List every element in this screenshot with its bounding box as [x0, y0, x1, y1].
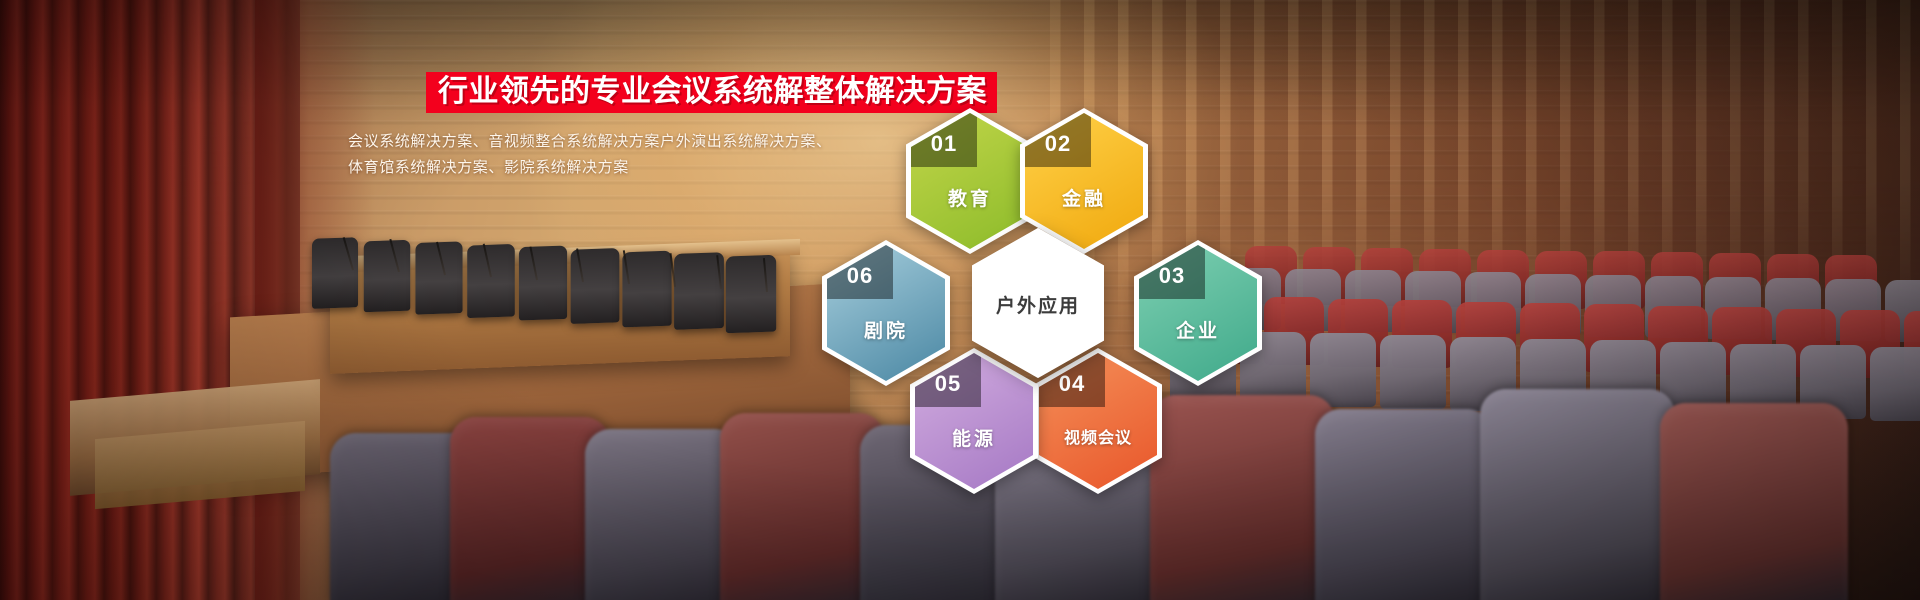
foreground-seat: [585, 429, 740, 600]
foreground-seat: [1660, 403, 1848, 600]
foreground-seat: [1315, 409, 1493, 600]
solution-hexagon-cluster: 01教育02金融03企业04视频会议05能源06剧院户外应用: [826, 100, 1266, 480]
banner-stage: 行业领先的专业会议系统解整体解决方案 会议系统解决方案、音视频整合系统解决方案户…: [0, 0, 1920, 600]
hex-center-label: 户外应用: [972, 291, 1104, 318]
hex-label: 视频会议: [1039, 424, 1157, 448]
hex-label: 企业: [1139, 316, 1257, 343]
hex-label: 教育: [911, 184, 1029, 211]
hex-fill: 户外应用: [972, 228, 1104, 378]
hex-tile-center[interactable]: 户外应用: [972, 228, 1104, 378]
foreground-seat: [1480, 389, 1675, 600]
hex-tile-06[interactable]: 06剧院: [822, 240, 950, 386]
conference-chair: [726, 255, 776, 333]
hex-label: 金融: [1025, 184, 1143, 211]
conference-chair: [622, 250, 671, 327]
conference-chair: [467, 244, 515, 318]
hex-label: 能源: [915, 424, 1033, 451]
hex-label: 剧院: [827, 316, 945, 343]
conference-chair: [519, 246, 567, 321]
conference-chair: [312, 237, 358, 309]
conference-chair: [364, 239, 411, 311]
